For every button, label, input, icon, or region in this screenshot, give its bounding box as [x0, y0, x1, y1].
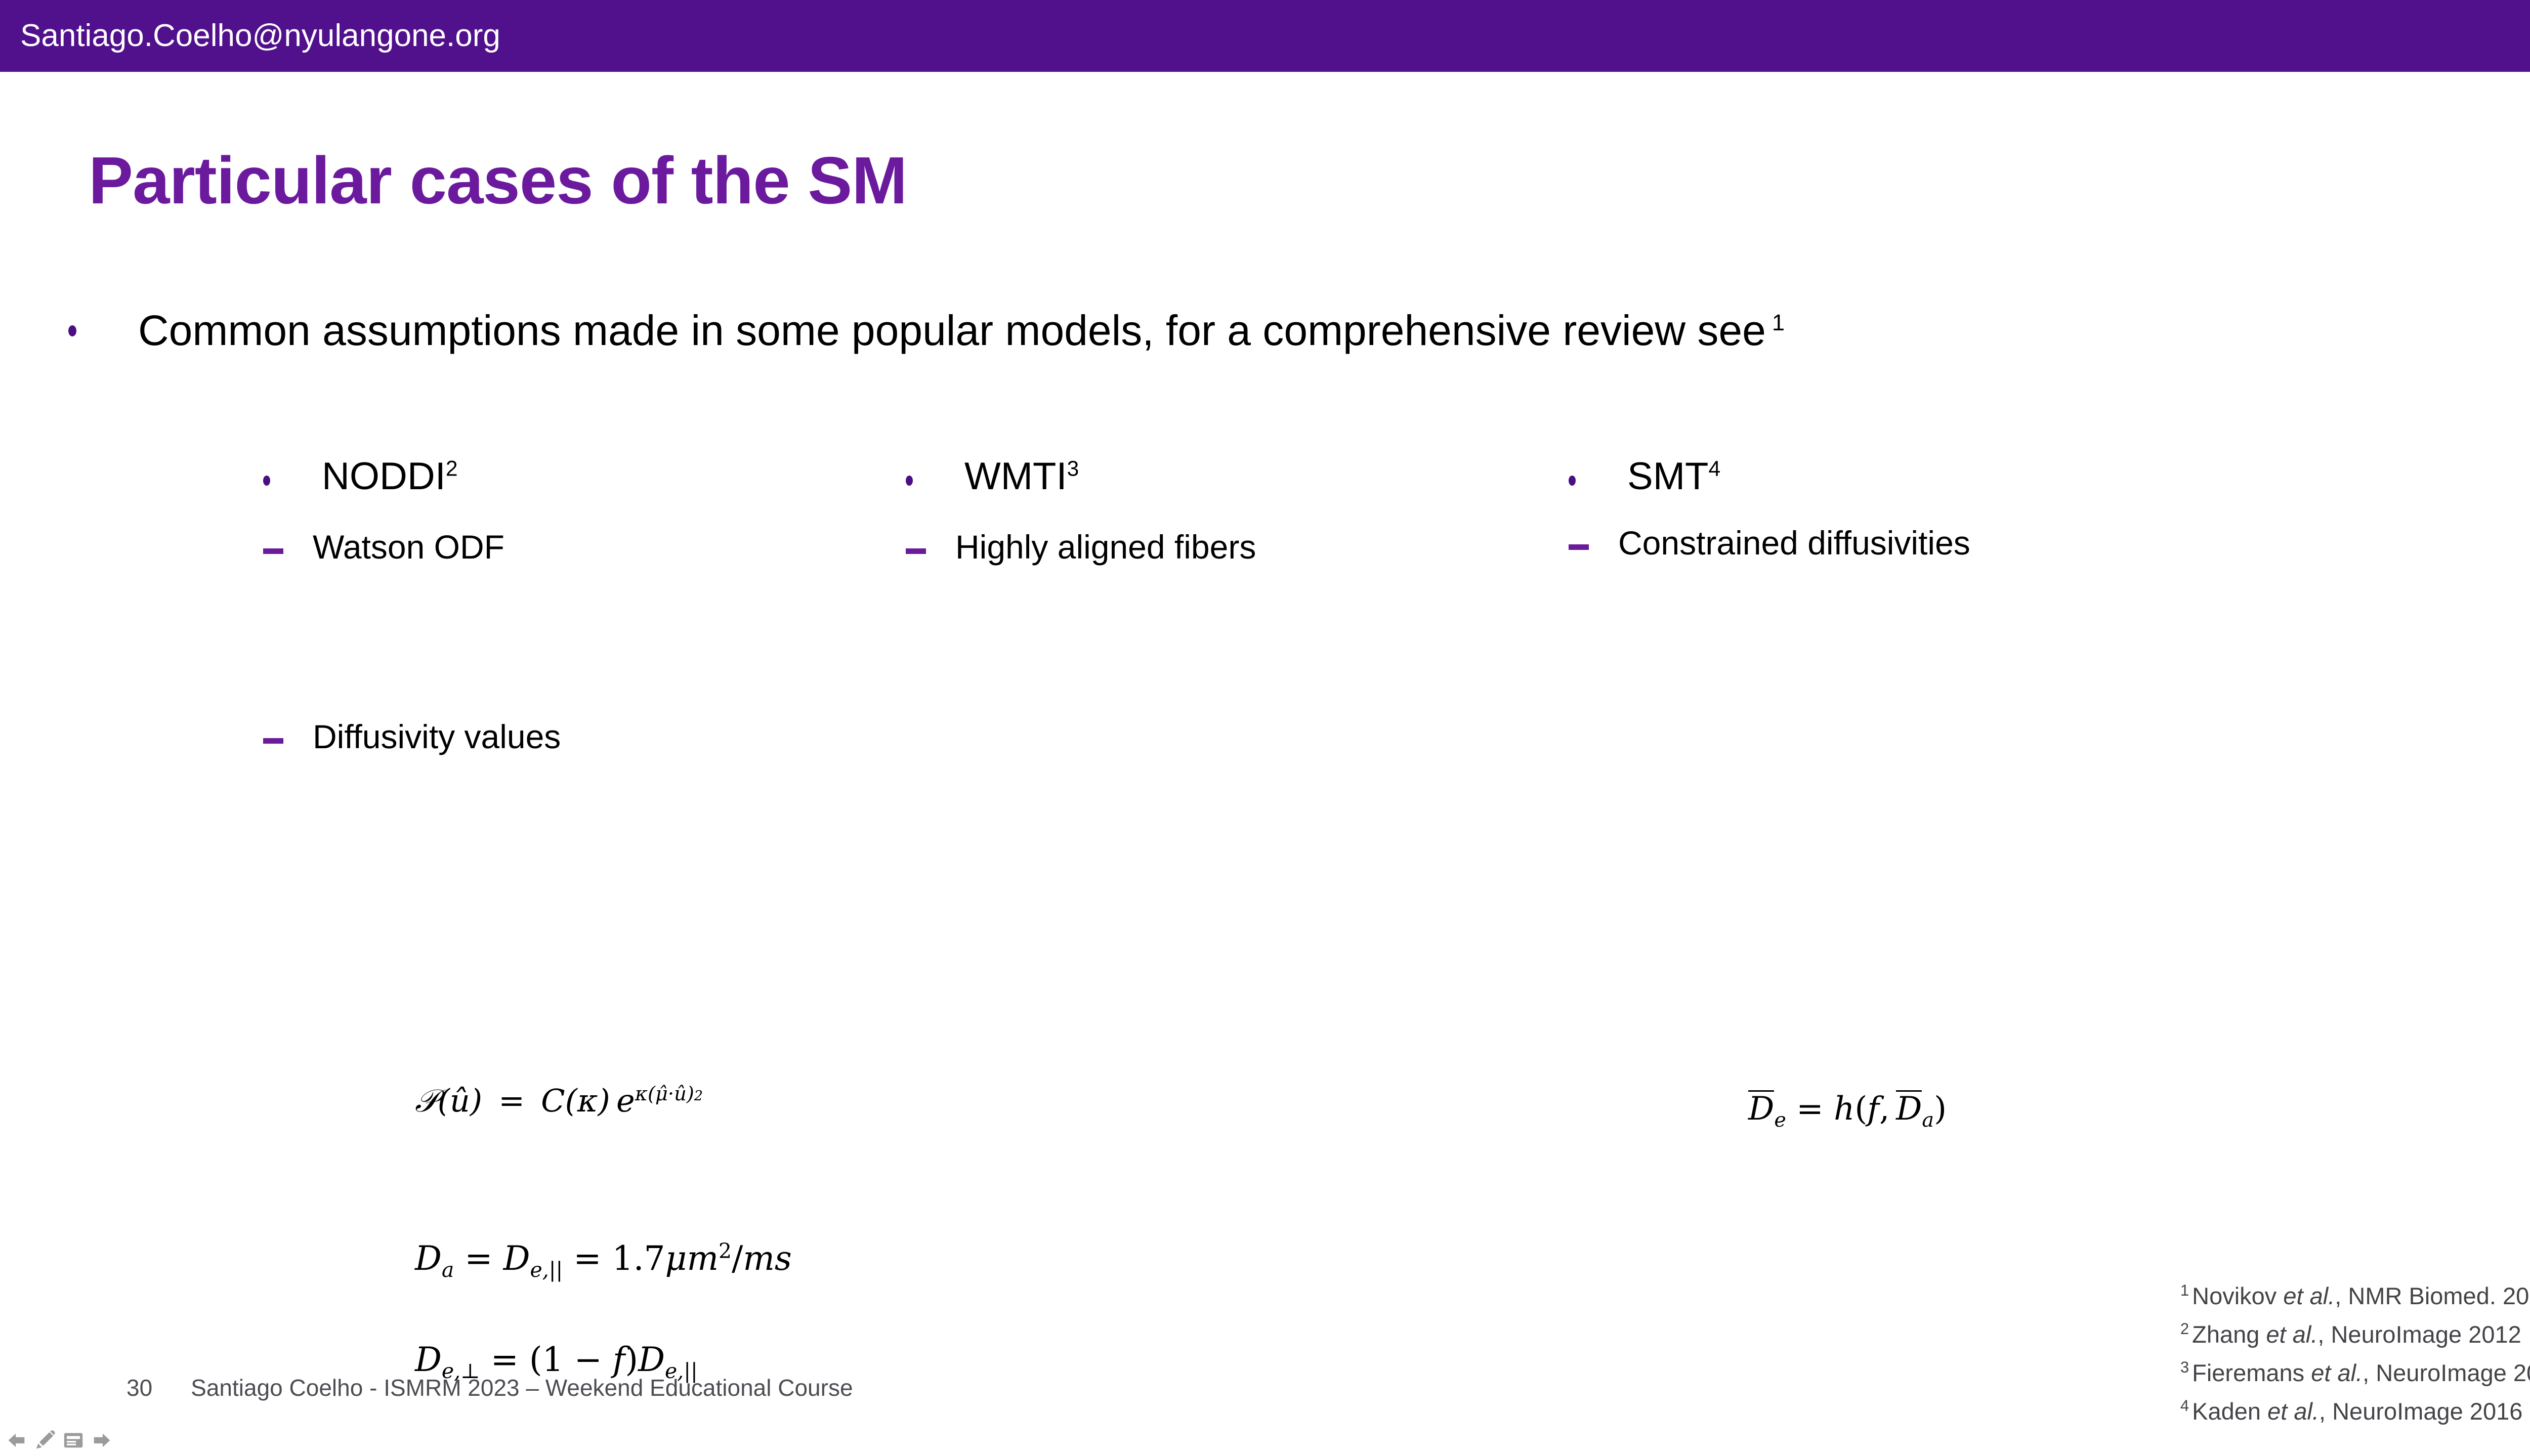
lead-bullet-superscript: 1 — [1772, 310, 1785, 335]
reference-etal: et al. — [2267, 1398, 2319, 1425]
reference-etal: et al. — [2311, 1359, 2363, 1386]
model-column-noddi: NODDI2 Watson ODF 𝒫(û) = C(κ) eκ(μ̂·û)… — [263, 455, 921, 756]
reference-marker: 2 — [2180, 1320, 2189, 1338]
model-name-noddi: NODDI — [322, 455, 446, 498]
sub-item-label: Watson ODF — [313, 528, 504, 567]
reference-marker: 4 — [2180, 1397, 2189, 1415]
column-header-noddi: NODDI2 — [263, 455, 921, 498]
bullet-dot-icon — [263, 476, 270, 486]
reference-authors: Novikov — [2192, 1282, 2276, 1309]
page-title: Particular cases of the SM — [89, 146, 907, 216]
previous-slide-icon[interactable] — [5, 1429, 28, 1452]
slide-number: 30 — [126, 1374, 152, 1401]
model-column-wmti: WMTI3 Highly aligned fibers — [906, 455, 1564, 566]
equation-watson-odf: 𝒫(û) = C(κ) eκ(μ̂·û)2 — [415, 1085, 703, 1117]
reference-rest: , NeuroImage 2016 — [2319, 1398, 2522, 1425]
top-banner: Santiago.Coelho@nyulangone.org — [0, 0, 2530, 72]
reference-authors: Kaden — [2192, 1398, 2261, 1425]
reference-etal: et al. — [2283, 1282, 2335, 1309]
sub-item-label: Highly aligned fibers — [955, 528, 1256, 567]
reference-etal: et al. — [2266, 1321, 2317, 1348]
reference-rest: , NeuroImage 2012 — [2317, 1321, 2521, 1348]
reference-rest: , NMR Biomed. 2018 — [2335, 1282, 2530, 1309]
sub-item-highly-aligned-fibers: Highly aligned fibers — [906, 528, 1564, 567]
slide-footer: 30 Santiago Coelho - ISMRM 2023 – Weeken… — [126, 1374, 853, 1401]
sub-item-label: Diffusivity values — [313, 718, 561, 756]
reference-marker: 3 — [2180, 1358, 2189, 1376]
reference-item: 1Novikov et al., NMR Biomed. 2018 — [2180, 1277, 2530, 1315]
references-list: 1Novikov et al., NMR Biomed. 2018 2Zhang… — [2180, 1277, 2530, 1431]
bullet-dot-icon — [1569, 476, 1576, 486]
reference-authors: Fieremans — [2192, 1359, 2304, 1386]
reference-item: 3Fieremans et al., NeuroImage 2011 — [2180, 1354, 2530, 1392]
column-title-text: WMTI3 — [964, 455, 1079, 498]
column-header-wmti: WMTI3 — [906, 455, 1564, 498]
dash-bullet-icon — [263, 548, 283, 554]
equation-de-perp: De,⊥ = (1 − f)De,|| — [415, 1343, 698, 1377]
presenter-email: Santiago.Coelho@nyulangone.org — [20, 20, 500, 52]
lead-bullet-label: Common assumptions made in some popular … — [138, 307, 1766, 354]
lead-bullet-item: Common assumptions made in some popular … — [68, 306, 1785, 355]
footer-text: Santiago Coelho - ISMRM 2023 – Weekend E… — [191, 1374, 853, 1401]
dash-bullet-icon — [906, 548, 926, 554]
bullet-dot-icon — [68, 325, 76, 336]
sub-item-watson-odf: Watson ODF — [263, 528, 921, 567]
reference-authors: Zhang — [2192, 1321, 2259, 1348]
pen-icon[interactable] — [33, 1429, 57, 1452]
reference-item: 2Zhang et al., NeuroImage 2012 — [2180, 1315, 2530, 1354]
bullet-dot-icon — [906, 476, 913, 486]
model-name-smt: SMT — [1627, 455, 1708, 498]
reference-item: 4Kaden et al., NeuroImage 2016 — [2180, 1392, 2530, 1431]
model-name-wmti: WMTI — [964, 455, 1067, 498]
reference-marker: 1 — [2180, 1281, 2189, 1299]
slideshow-navigation-bar[interactable] — [5, 1429, 113, 1452]
dash-bullet-icon — [263, 738, 283, 744]
model-column-smt: SMT4 Constrained diffusivities De = h(f,… — [1569, 455, 2328, 562]
column-title-text: SMT4 — [1627, 455, 1720, 498]
model-ref-superscript: 4 — [1708, 457, 1720, 481]
next-slide-icon[interactable] — [90, 1429, 113, 1452]
column-title-text: NODDI2 — [322, 455, 458, 498]
sub-item-label: Constrained diffusivities — [1618, 524, 1970, 563]
slide-menu-icon[interactable] — [62, 1429, 85, 1452]
sub-item-diffusivity-values: Diffusivity values — [263, 718, 921, 756]
model-ref-superscript: 2 — [446, 457, 458, 481]
lead-bullet-text: Common assumptions made in some popular … — [138, 306, 1785, 355]
dash-bullet-icon — [1569, 544, 1589, 550]
equation-da-de-parallel: Da = De,|| = 1.7μm2/ms — [415, 1242, 792, 1275]
reference-rest: , NeuroImage 2011 — [2363, 1359, 2530, 1386]
model-ref-superscript: 3 — [1067, 457, 1079, 481]
equation-de-bar: De = h(f, Da) — [1748, 1090, 1947, 1125]
column-header-smt: SMT4 — [1569, 455, 2328, 498]
sub-item-constrained-diffusivities: Constrained diffusivities — [1569, 524, 2328, 563]
